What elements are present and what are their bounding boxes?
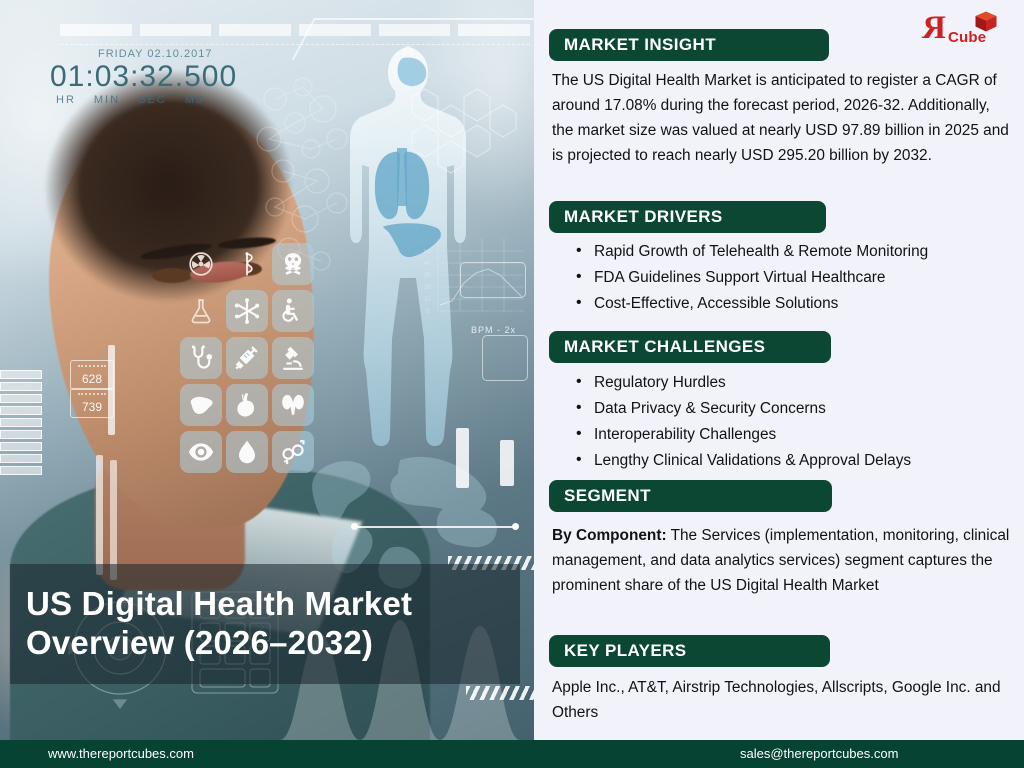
footer-website[interactable]: www.thereportcubes.com bbox=[48, 746, 194, 761]
segment-lead-label: By Component: bbox=[552, 527, 667, 544]
footer-bar: www.thereportcubes.com sales@thereportcu… bbox=[0, 740, 1024, 768]
list-item: Lengthy Clinical Validations & Approval … bbox=[572, 453, 1012, 468]
page-title: US Digital Health Market Overview (2026–… bbox=[10, 585, 412, 663]
list-item: Data Privacy & Security Concerns bbox=[572, 401, 1012, 416]
brand-logo-letter: R bbox=[922, 12, 946, 45]
section-body-key-players: Apple Inc., AT&T, Airstrip Technologies,… bbox=[552, 676, 1010, 726]
hero-image-panel: FRIDAY 02.10.2017 01:03:32.500 HR MIN SE… bbox=[0, 0, 534, 740]
section-heading-key-players: KEY PLAYERS bbox=[549, 635, 830, 667]
section-heading-market-insight: MARKET INSIGHT bbox=[549, 29, 829, 61]
section-heading-segment: SEGMENT bbox=[549, 480, 832, 512]
list-item: Regulatory Hurdles bbox=[572, 375, 1012, 390]
brand-logo[interactable]: R Cube bbox=[920, 8, 1010, 52]
list-item: Interoperability Challenges bbox=[572, 427, 1012, 442]
list-item: Rapid Growth of Telehealth & Remote Moni… bbox=[572, 244, 1012, 259]
brand-logo-word: Cube bbox=[948, 29, 986, 46]
infographic-page: FRIDAY 02.10.2017 01:03:32.500 HR MIN SE… bbox=[0, 0, 1024, 768]
section-body-market-insight: The US Digital Health Market is anticipa… bbox=[552, 69, 1010, 169]
footer-email[interactable]: sales@thereportcubes.com bbox=[740, 746, 898, 761]
section-heading-market-challenges: MARKET CHALLENGES bbox=[549, 331, 831, 363]
list-item: Cost-Effective, Accessible Solutions bbox=[572, 296, 1012, 311]
content-panel: R Cube MARKET INSIGHT The US Digital Hea… bbox=[534, 0, 1024, 740]
list-item: FDA Guidelines Support Virtual Healthcar… bbox=[572, 270, 1012, 285]
section-body-segment: By Component: The Services (implementati… bbox=[552, 524, 1010, 599]
section-heading-market-drivers: MARKET DRIVERS bbox=[549, 201, 826, 233]
section-list-market-drivers: Rapid Growth of Telehealth & Remote Moni… bbox=[572, 244, 1012, 322]
person-eye-left bbox=[152, 268, 192, 283]
hero-title-band: US Digital Health Market Overview (2026–… bbox=[10, 564, 520, 684]
section-list-market-challenges: Regulatory Hurdles Data Privacy & Securi… bbox=[572, 375, 1012, 479]
